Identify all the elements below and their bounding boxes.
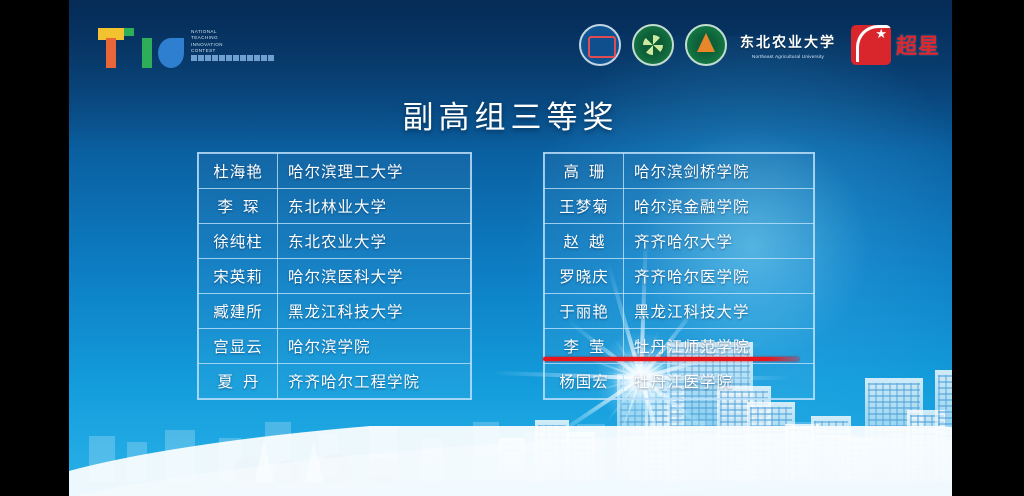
awards-table-left-body: 杜海艳哈尔滨理工大学李琛东北林业大学徐纯柱东北农业大学宋英莉哈尔滨医科大学臧建所…	[199, 154, 471, 399]
table-row[interactable]: 宫显云哈尔滨学院	[199, 329, 471, 364]
cafp-emblem-icon	[579, 24, 621, 66]
cell-organization: 黑龙江科技大学	[624, 294, 814, 329]
table-row[interactable]: 罗晓庆齐齐哈尔医学院	[545, 259, 814, 294]
table-row[interactable]: 赵越齐齐哈尔大学	[545, 224, 814, 259]
cell-name: 宫显云	[199, 329, 278, 364]
cell-name: 杜海艳	[199, 154, 278, 189]
cell-name: 夏丹	[199, 364, 278, 399]
chaoxing-mark-icon	[851, 25, 891, 65]
neau-circle-emblem-icon	[685, 24, 727, 66]
cell-organization: 齐齐哈尔大学	[624, 224, 814, 259]
cell-name: 李琛	[199, 189, 278, 224]
table-row[interactable]: 王梦菊哈尔滨金融学院	[545, 189, 814, 224]
cell-name: 宋英莉	[199, 259, 278, 294]
cell-organization: 齐齐哈尔医学院	[624, 259, 814, 294]
green-circle-emblem-icon	[632, 24, 674, 66]
cell-name: 杨国宏	[545, 364, 624, 399]
cell-organization: 黑龙江科技大学	[278, 294, 471, 329]
letterbox-left	[0, 0, 69, 496]
cell-name: 赵越	[545, 224, 624, 259]
tic-mark-icon	[98, 28, 184, 62]
cell-name: 徐纯柱	[199, 224, 278, 259]
cell-organization: 东北林业大学	[278, 189, 471, 224]
table-row[interactable]: 于丽艳黑龙江科技大学	[545, 294, 814, 329]
cell-organization: 牡丹江医学院	[624, 364, 814, 399]
tic-contest-logo: NATIONAL TEACHING INNOVATION CONTEST	[98, 24, 216, 66]
university-name-en: Northeast Agricultural University	[752, 54, 824, 59]
cell-organization: 哈尔滨剑桥学院	[624, 154, 814, 189]
cell-organization: 哈尔滨学院	[278, 329, 471, 364]
tic-cn-blocks	[191, 55, 274, 61]
letterbox-right	[952, 0, 1024, 496]
cell-organization: 东北农业大学	[278, 224, 471, 259]
awards-table-right: 高珊哈尔滨剑桥学院王梦菊哈尔滨金融学院赵越齐齐哈尔大学罗晓庆齐齐哈尔医学院于丽艳…	[543, 152, 815, 400]
cell-organization: 哈尔滨金融学院	[624, 189, 814, 224]
presentation-slide: NATIONAL TEACHING INNOVATION CONTEST 东北农…	[0, 0, 1024, 496]
tic-line-3: CONTEST	[191, 48, 274, 54]
cell-name: 罗晓庆	[545, 259, 624, 294]
table-row[interactable]: 高珊哈尔滨剑桥学院	[545, 154, 814, 189]
partner-emblems: 东北农业大学 Northeast Agricultural University…	[579, 22, 940, 68]
table-row[interactable]: 夏丹齐齐哈尔工程学院	[199, 364, 471, 399]
page-title: 副高组三等奖	[69, 92, 952, 137]
cell-organization: 齐齐哈尔工程学院	[278, 364, 471, 399]
table-row[interactable]: 杜海艳哈尔滨理工大学	[199, 154, 471, 189]
university-name-cn: 东北农业大学	[740, 32, 836, 52]
logo-bar: NATIONAL TEACHING INNOVATION CONTEST 东北农…	[69, 0, 952, 90]
awards-table-left: 杜海艳哈尔滨理工大学李琛东北林业大学徐纯柱东北农业大学宋英莉哈尔滨医科大学臧建所…	[197, 152, 472, 400]
ground-swoosh-graphic	[69, 426, 952, 496]
tic-logo-text: NATIONAL TEACHING INNOVATION CONTEST	[191, 27, 274, 63]
table-row[interactable]: 徐纯柱东北农业大学	[199, 224, 471, 259]
cell-organization: 哈尔滨医科大学	[278, 259, 471, 294]
table-row[interactable]: 臧建所黑龙江科技大学	[199, 294, 471, 329]
university-wordmark: 东北农业大学 Northeast Agricultural University	[740, 24, 836, 66]
red-highlight-underline	[543, 357, 799, 361]
cell-name: 王梦菊	[545, 189, 624, 224]
table-row[interactable]: 宋英莉哈尔滨医科大学	[199, 259, 471, 294]
sponsor-logo: 超星	[851, 25, 940, 65]
slide-canvas: NATIONAL TEACHING INNOVATION CONTEST 东北农…	[69, 0, 952, 496]
awards-table-right-body: 高珊哈尔滨剑桥学院王梦菊哈尔滨金融学院赵越齐齐哈尔大学罗晓庆齐齐哈尔医学院于丽艳…	[545, 154, 814, 399]
cell-organization: 哈尔滨理工大学	[278, 154, 471, 189]
cell-name: 臧建所	[199, 294, 278, 329]
table-row[interactable]: 杨国宏牡丹江医学院	[545, 364, 814, 399]
cell-name: 于丽艳	[545, 294, 624, 329]
sponsor-name-cn: 超星	[896, 30, 940, 60]
table-row[interactable]: 李琛东北林业大学	[199, 189, 471, 224]
cell-name: 高珊	[545, 154, 624, 189]
